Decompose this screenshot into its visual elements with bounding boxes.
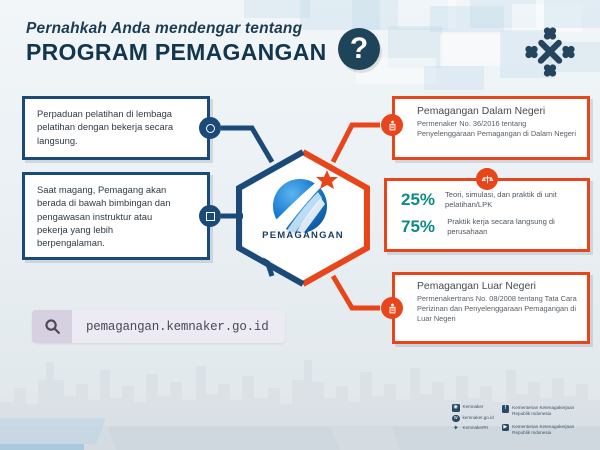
domestic-internship-title: Pemagangan Dalam Negeri	[395, 99, 587, 117]
footer-label: Kementerian Ketenagakerjaan Republik Ind…	[512, 405, 582, 417]
footer-label: KemnakerRI	[463, 425, 489, 431]
square-icon	[199, 205, 221, 227]
composition-percent: 25%	[401, 190, 438, 210]
search-input[interactable]: pemagangan.kemnaker.go.id	[72, 320, 269, 334]
overseas-internship-title: Pemagangan Luar Negeri	[395, 275, 587, 292]
person-document-icon	[381, 114, 403, 136]
footer-right-column: f Kementerian Ketenagakerjaan Republik I…	[502, 404, 583, 436]
domestic-internship-box: Pemagangan Dalam Negeri Permenaker No. 3…	[392, 96, 590, 160]
composition-row: 25% Teori, simulasi, dan praktik di unit…	[387, 190, 587, 210]
pemagangan-logo-label: PEMAGANGAN	[228, 230, 378, 241]
footer-label: Kementerian Ketenagakerjaan Republik Ind…	[512, 424, 582, 436]
domestic-internship-subtitle: Permenaker No. 36/2016 tentang Penyeleng…	[395, 117, 587, 139]
infographic-canvas: Pernahkah Anda mendengar tentang PROGRAM…	[0, 0, 600, 450]
footer-item[interactable]: f Kementerian Ketenagakerjaan Republik I…	[502, 405, 583, 417]
composition-label: Praktik kerja secara langsung di perusah…	[447, 217, 587, 236]
overseas-internship-subtitle: Permenakertrans No. 08/2008 tentang Tata…	[395, 292, 587, 323]
web-icon[interactable]: w	[452, 415, 460, 423]
facebook-icon[interactable]: f	[502, 405, 510, 413]
composition-row: 75% Praktik kerja secara langsung di per…	[387, 217, 587, 237]
supervision-box-text: Saat magang, Pemagang akan berada di baw…	[25, 175, 207, 258]
definition-box: Perpaduan pelatihan di lembaga pelatihan…	[22, 96, 210, 160]
footer-label: Kemnaker	[463, 404, 484, 410]
instagram-icon[interactable]: ◉	[452, 404, 460, 412]
twitter-icon[interactable]: ✦	[452, 425, 460, 433]
footer-social-links: ◉ Kemnaker w kemnaker.go.id ✦ KemnakerRI…	[452, 404, 582, 436]
footer-left-column: ◉ Kemnaker w kemnaker.go.id ✦ KemnakerRI	[452, 404, 494, 436]
balance-scale-icon	[476, 168, 498, 190]
pemagangan-hexagon	[228, 148, 378, 288]
footer-item[interactable]: ▶ Kementerian Ketenagakerjaan Republik I…	[502, 424, 583, 436]
search-icon[interactable]	[32, 310, 72, 343]
footer-item[interactable]: ◉ Kemnaker	[452, 404, 494, 412]
footer-item[interactable]: ✦ KemnakerRI	[452, 425, 494, 433]
youtube-icon[interactable]: ▶	[502, 424, 510, 432]
person-document-icon	[381, 297, 403, 319]
supervision-box: Saat magang, Pemagang akan berada di baw…	[22, 172, 210, 260]
gear-icon	[199, 117, 221, 139]
definition-box-text: Perpaduan pelatihan di lembaga pelatihan…	[25, 99, 207, 155]
footer-label: kemnaker.go.id	[463, 415, 494, 421]
search-bar[interactable]: pemagangan.kemnaker.go.id	[32, 310, 285, 343]
footer-item[interactable]: w kemnaker.go.id	[452, 415, 494, 423]
composition-percent: 75%	[401, 217, 440, 237]
composition-label: Teori, simulasi, dan praktik di unit pel…	[445, 190, 587, 209]
overseas-internship-box: Pemagangan Luar Negeri Permenakertrans N…	[392, 272, 590, 344]
